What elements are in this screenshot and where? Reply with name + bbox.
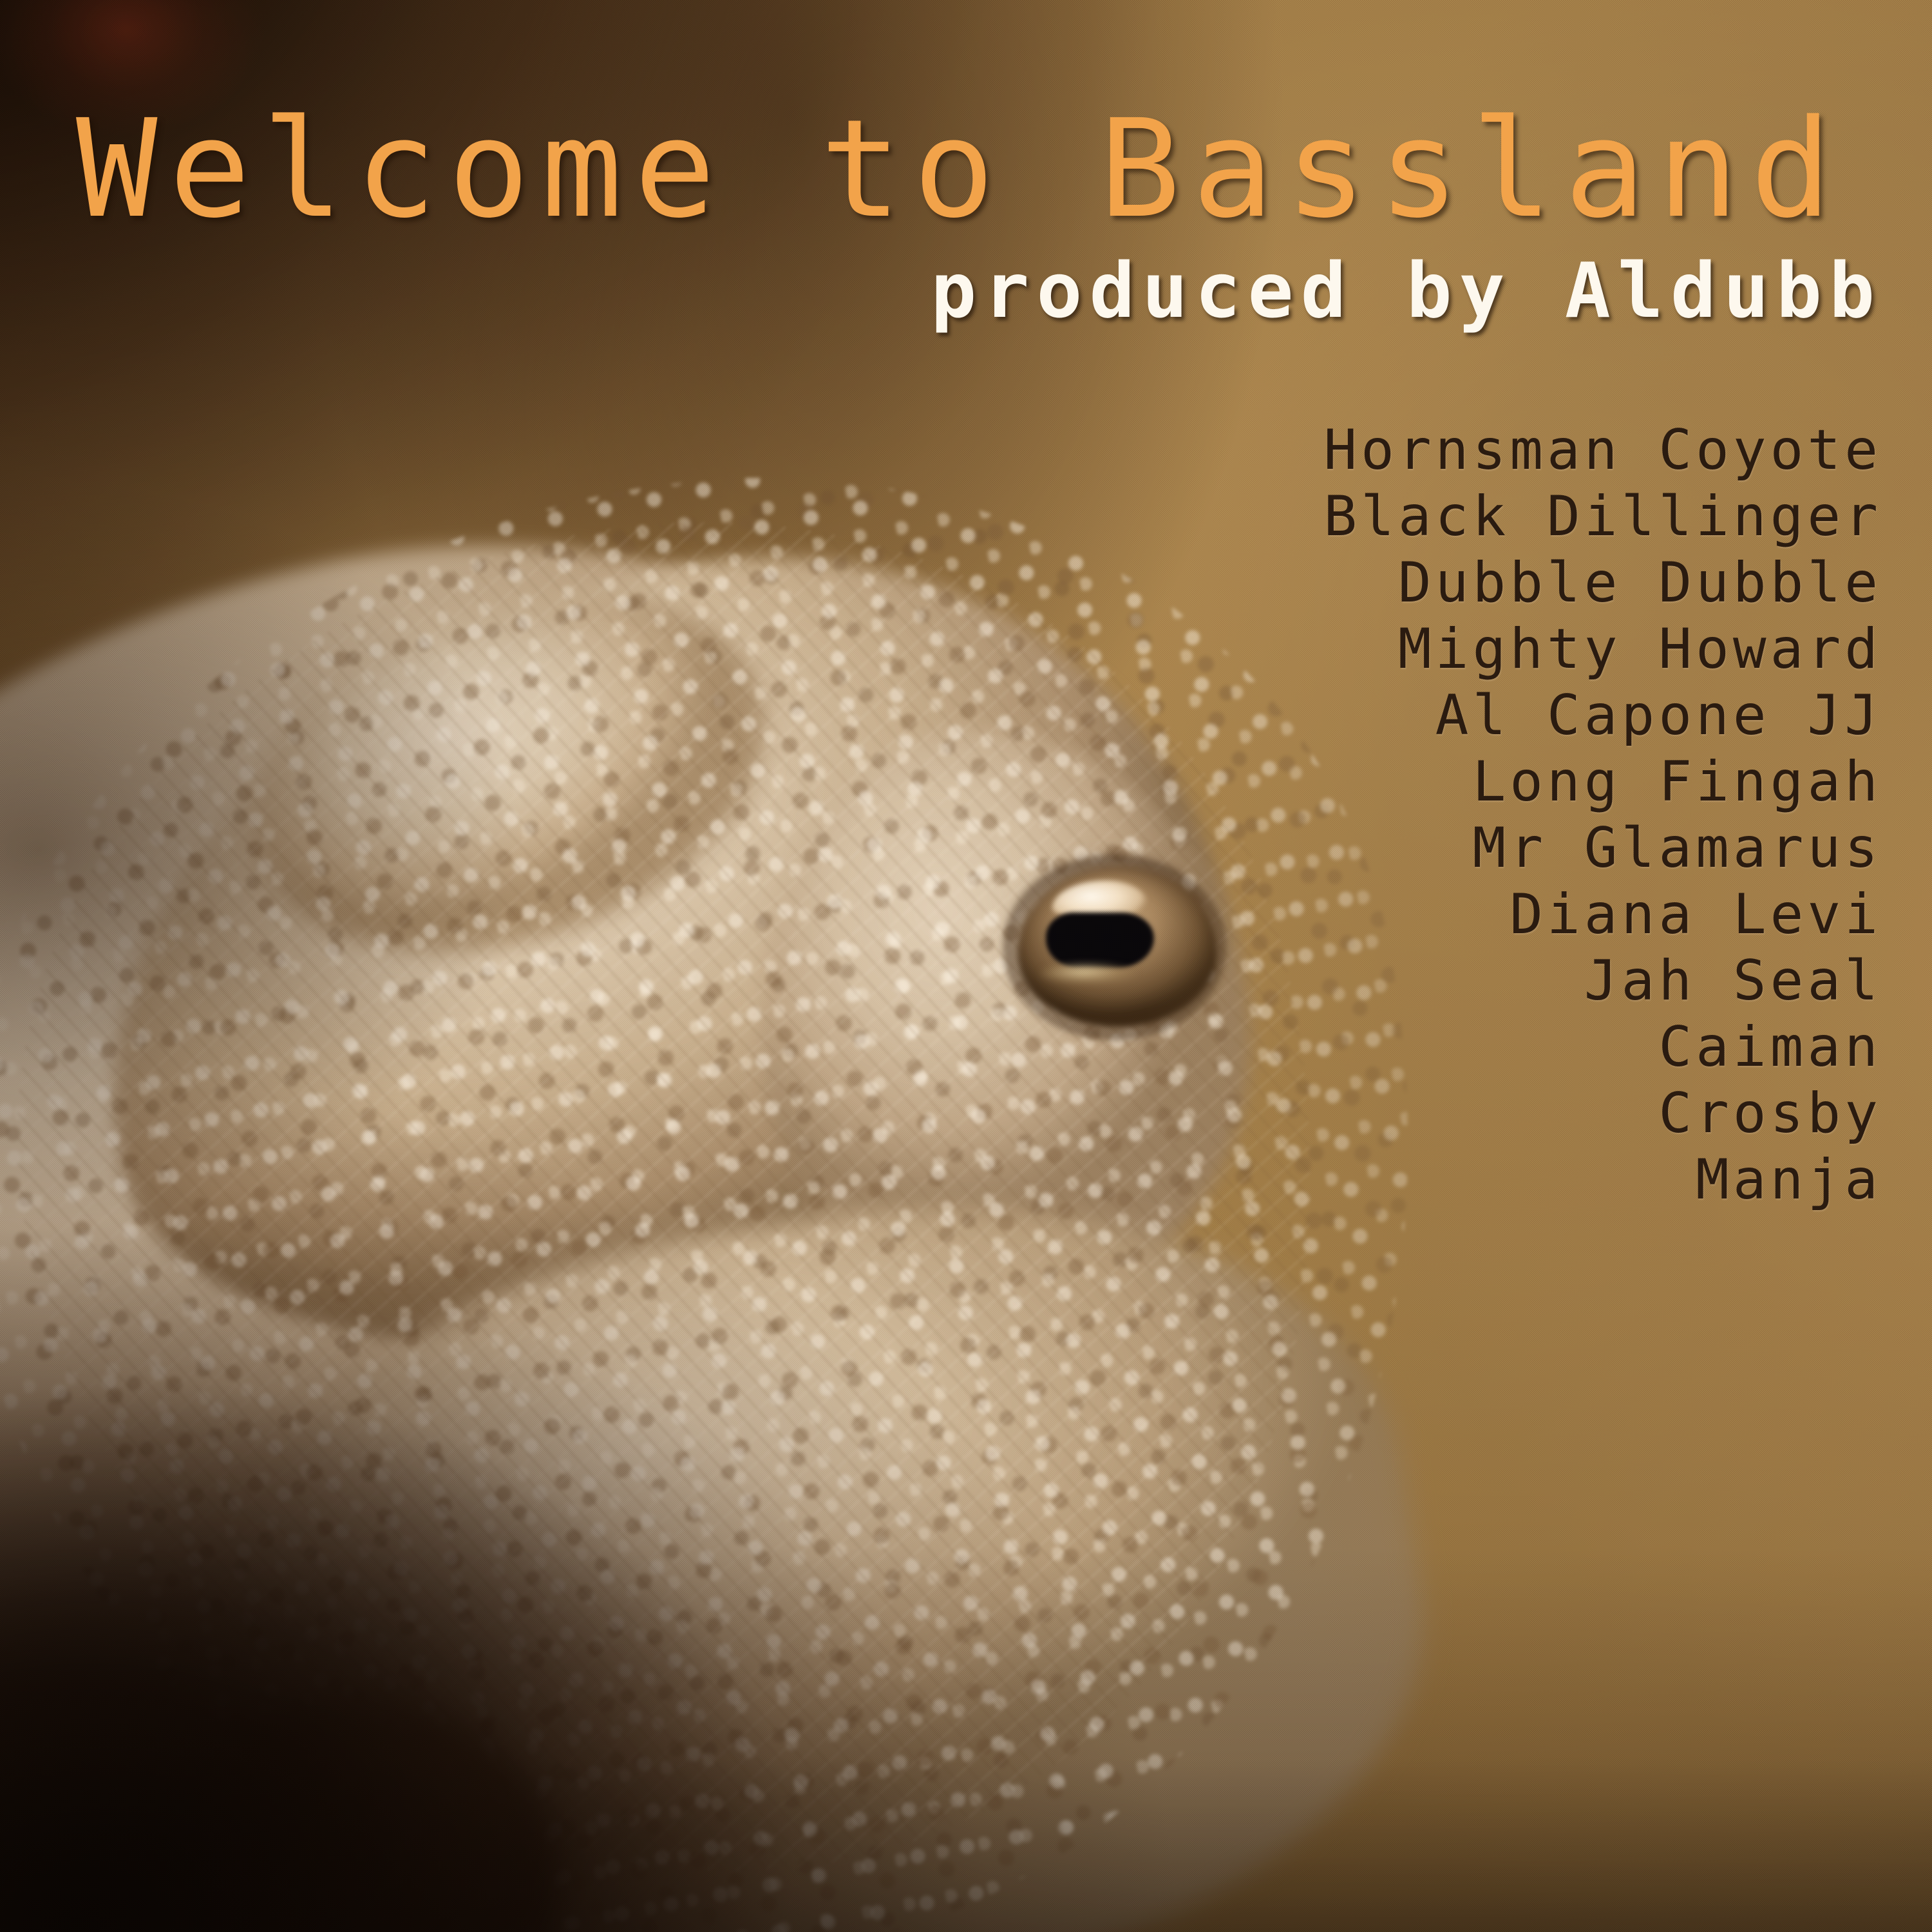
artist-list-item: Black Dillinger (980, 484, 1882, 550)
artist-list-item: Al Capone JJ (980, 683, 1882, 749)
artist-list-item: Jah Seal (980, 948, 1882, 1014)
artist-list-item: Hornsman Coyote (980, 417, 1882, 484)
artist-list-item: Long Fingah (980, 749, 1882, 815)
album-cover: Welcome to Bassland produced by Aldubb H… (0, 0, 1932, 1932)
artist-list-item: Dubble Dubble (980, 550, 1882, 616)
artist-list-item: Diana Levi (980, 882, 1882, 948)
artist-list-item: Manja (980, 1147, 1882, 1213)
artist-list-item: Caiman (980, 1014, 1882, 1081)
producer-credit: produced by Aldubb (931, 252, 1882, 328)
artist-list-item: Crosby (980, 1081, 1882, 1147)
artist-list-item: Mighty Howard (980, 616, 1882, 683)
artist-list: Hornsman CoyoteBlack DillingerDubble Dub… (980, 417, 1882, 1213)
album-title: Welcome to Bassland (76, 102, 1843, 237)
artist-list-item: Mr Glamarus (980, 815, 1882, 882)
